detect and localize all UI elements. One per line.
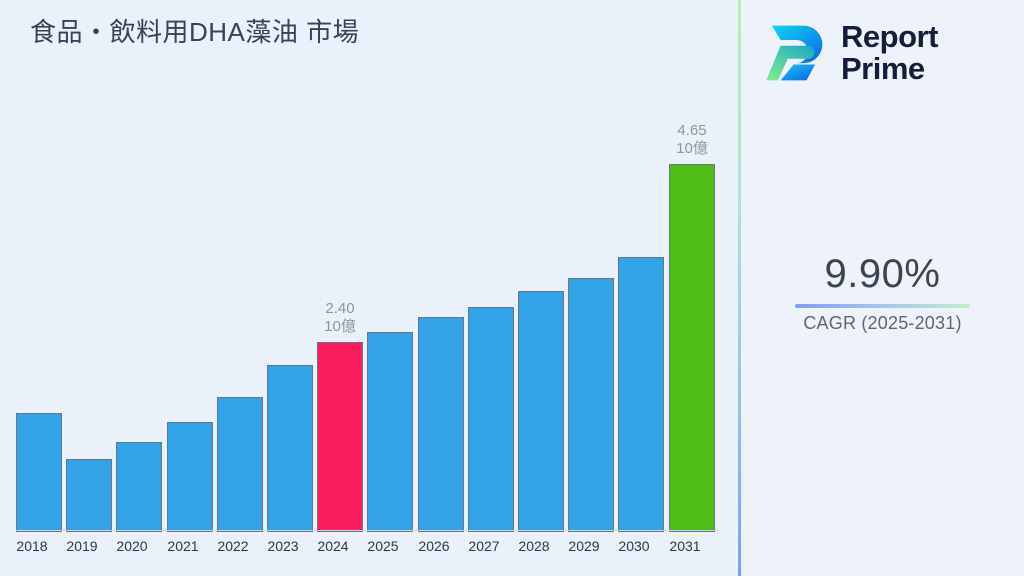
bar-value-number: 2.40 <box>303 300 377 318</box>
bar-value-unit: 10億 <box>655 140 729 158</box>
chart-panel: 食品・飲料用DHA藻油 市場 2.4010億4.6510億 2018201920… <box>0 0 738 576</box>
bar-value-number: 4.65 <box>655 122 729 140</box>
bar-2023[interactable] <box>267 365 313 532</box>
bar-value-unit: 10億 <box>303 318 377 336</box>
brand-name-line1: Report <box>841 21 938 53</box>
bar-2021[interactable] <box>167 422 213 532</box>
cagr-caption: CAGR (2025-2031) <box>741 313 1024 334</box>
brand-name: Report Prime <box>841 21 938 85</box>
bar-column[interactable] <box>367 120 413 532</box>
bar-2026[interactable] <box>418 317 464 532</box>
bar-2028[interactable] <box>518 291 564 532</box>
bar-column[interactable] <box>16 120 62 532</box>
bar-value-label-2024: 2.4010億 <box>303 300 377 336</box>
bar-2022[interactable] <box>217 397 263 532</box>
bar-2018[interactable] <box>16 413 62 532</box>
bar-2027[interactable] <box>468 307 514 532</box>
bar-column[interactable] <box>66 120 112 532</box>
report-prime-logo-icon <box>759 17 831 89</box>
bar-column[interactable] <box>116 120 162 532</box>
x-axis-tick-2031: 2031 <box>655 538 715 554</box>
chart-title: 食品・飲料用DHA藻油 市場 <box>30 12 359 49</box>
bar-2029[interactable] <box>568 278 614 532</box>
cagr-value: 9.90% <box>741 250 1024 298</box>
bar-column[interactable] <box>167 120 213 532</box>
bar-2031[interactable] <box>669 164 715 532</box>
bar-2025[interactable] <box>367 332 413 532</box>
bar-2019[interactable] <box>66 459 112 532</box>
bar-column[interactable] <box>618 120 664 532</box>
bar-column[interactable]: 2.4010億 <box>317 120 363 532</box>
cagr-divider-rule <box>795 304 970 308</box>
bar-column[interactable] <box>568 120 614 532</box>
bar-value-label-2031: 4.6510億 <box>655 122 729 158</box>
bar-column[interactable] <box>468 120 514 532</box>
bar-column[interactable] <box>418 120 464 532</box>
cagr-block: 9.90% CAGR (2025-2031) <box>741 250 1024 334</box>
bar-2020[interactable] <box>116 442 162 532</box>
bar-column[interactable]: 4.6510億 <box>669 120 715 532</box>
bar-2024[interactable] <box>317 342 363 532</box>
bar-column[interactable] <box>217 120 263 532</box>
bar-column[interactable] <box>518 120 564 532</box>
brand-name-line2: Prime <box>841 53 938 85</box>
bar-2030[interactable] <box>618 257 664 532</box>
bar-chart-plot-area: 2.4010億4.6510億 <box>16 120 718 532</box>
brand-panel: Report Prime 9.90% CAGR (2025-2031) <box>741 0 1024 576</box>
brand-logo: Report Prime <box>759 12 1009 94</box>
x-axis-line <box>16 530 718 531</box>
